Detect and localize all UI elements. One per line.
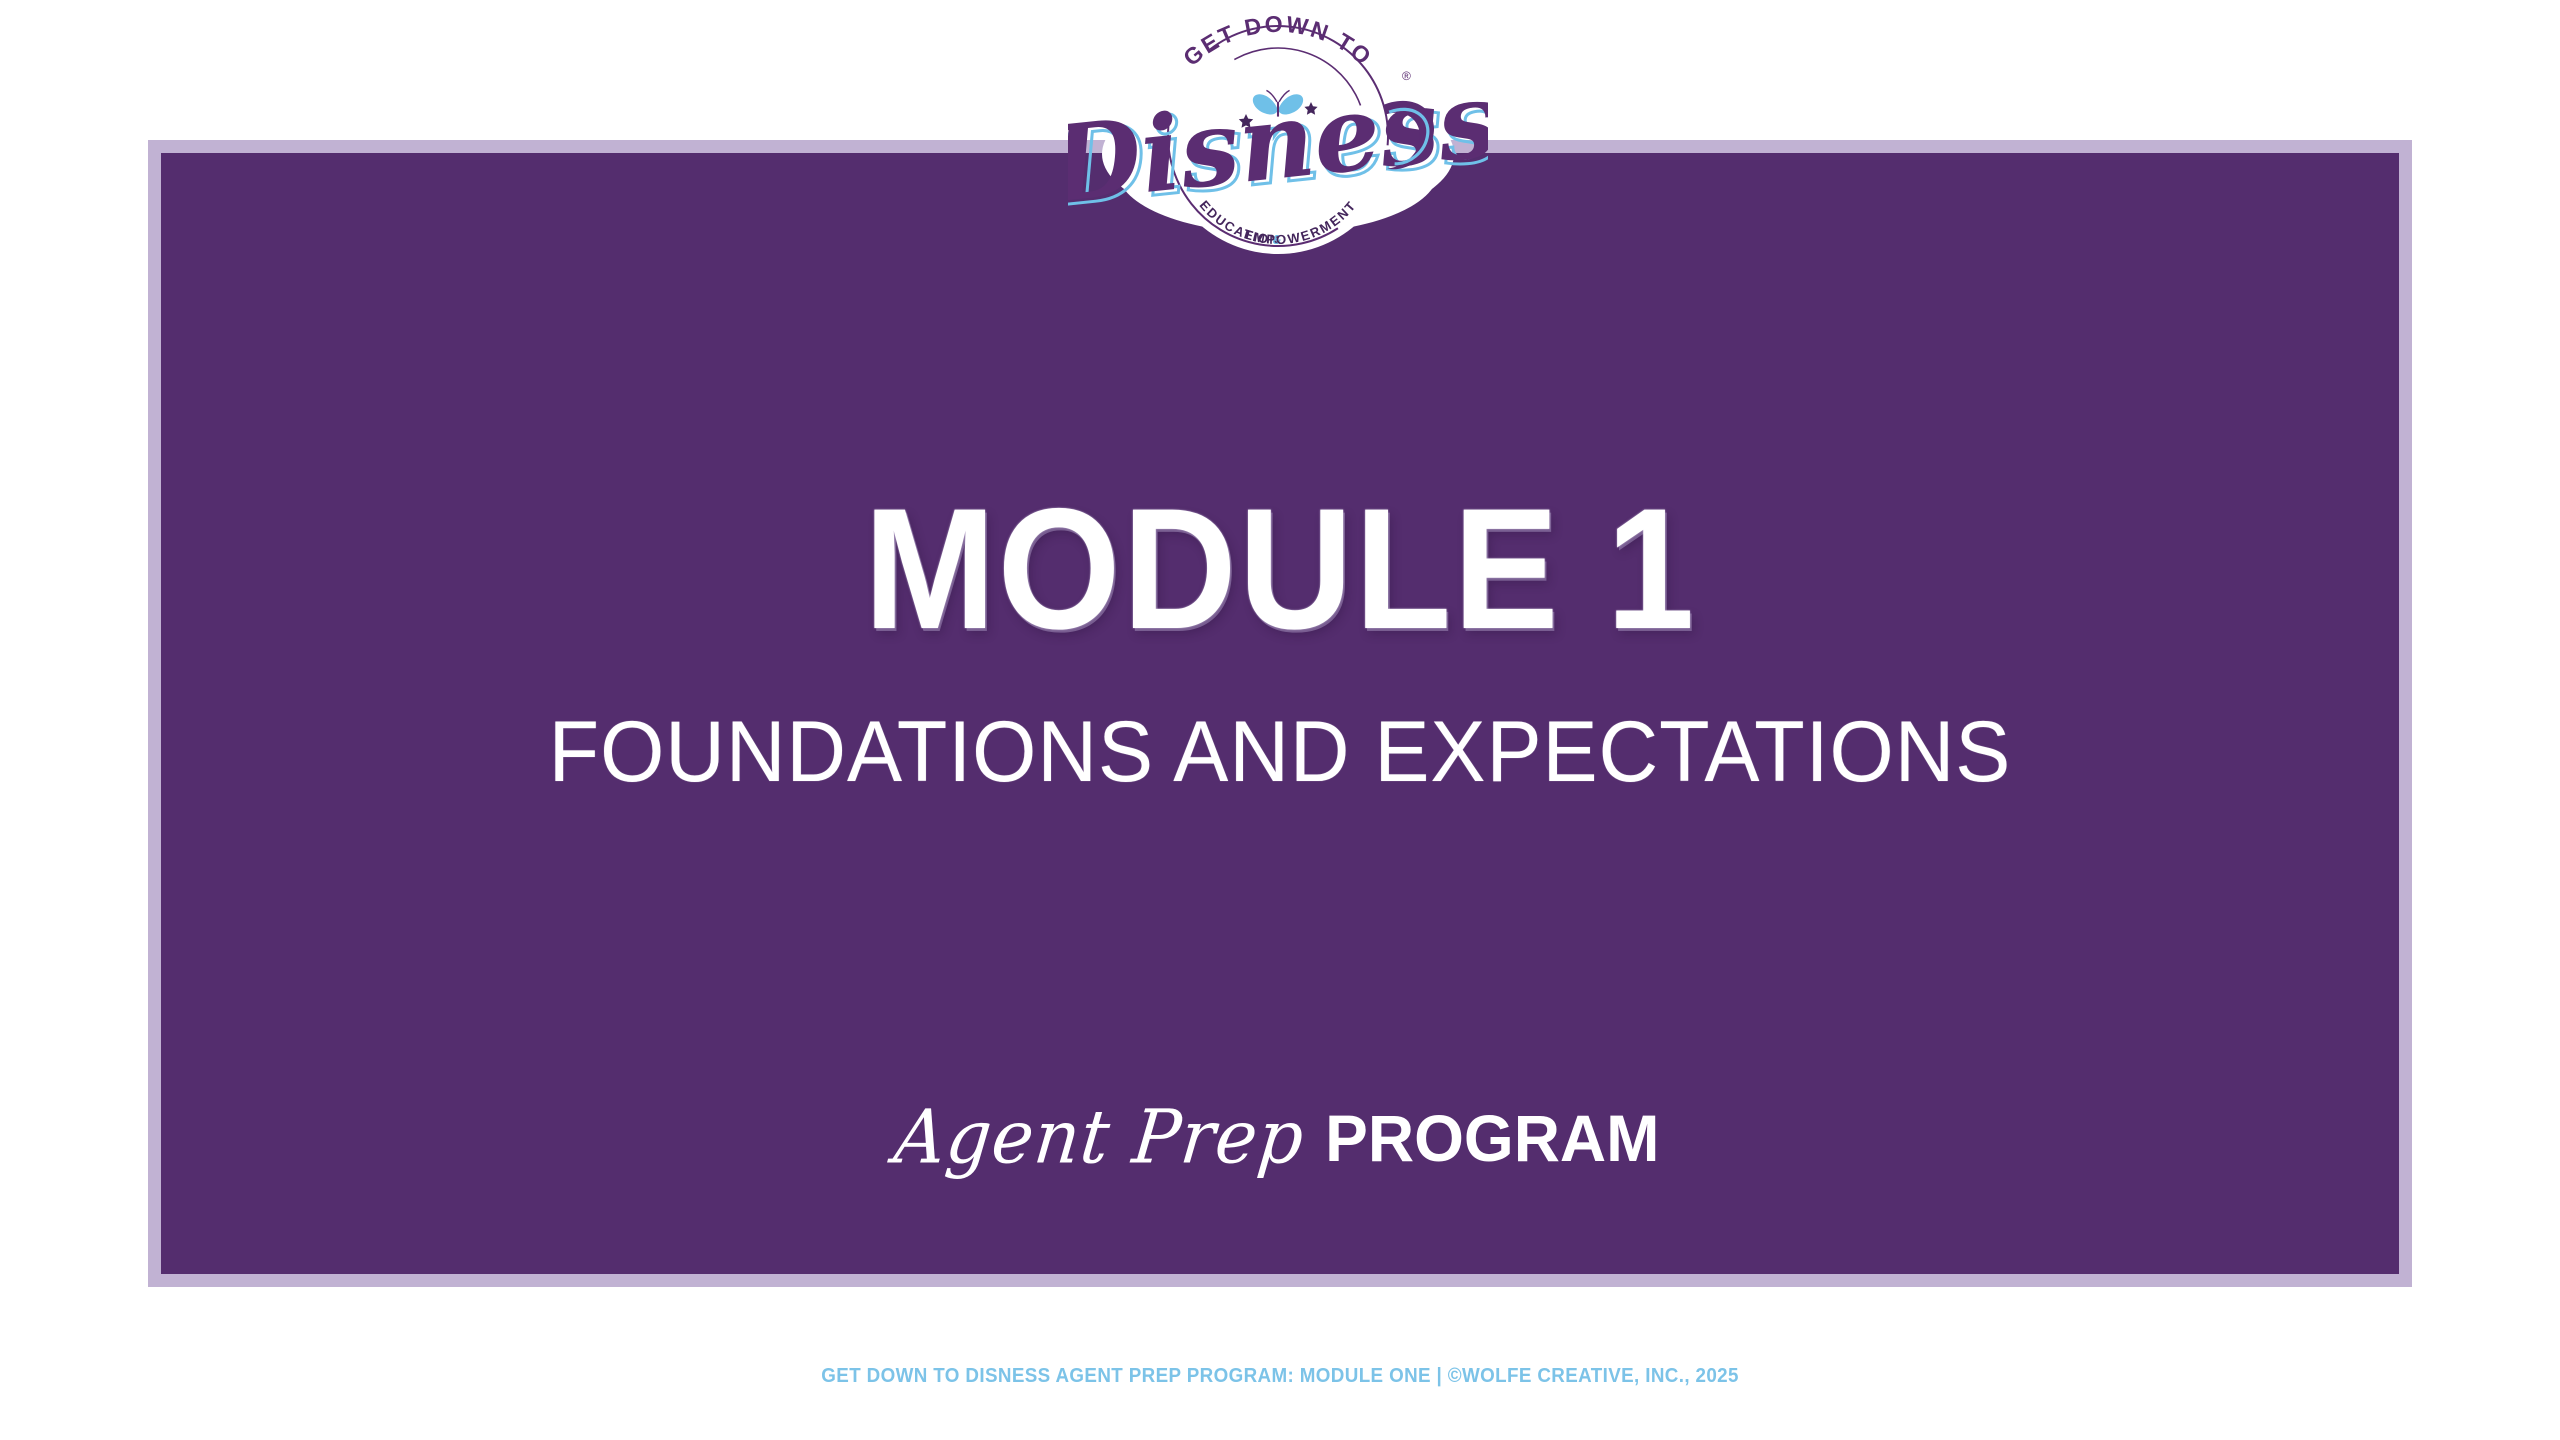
- slide-card-inner: MODULE 1 FOUNDATIONS AND EXPECTATIONS Ag…: [161, 153, 2399, 1274]
- slide-card: MODULE 1 FOUNDATIONS AND EXPECTATIONS Ag…: [148, 140, 2412, 1287]
- registered-mark-icon: ®: [1402, 69, 1411, 83]
- footer-credit-text: GET DOWN TO DISNESS AGENT PREP PROGRAM: …: [821, 1365, 1739, 1388]
- slide-root: MODULE 1 FOUNDATIONS AND EXPECTATIONS Ag…: [0, 0, 2560, 1440]
- brand-logo: GET DOWN TO EDUCATION & E: [1068, 4, 1488, 254]
- program-bold-label: PROGRAM: [1325, 1100, 1659, 1176]
- footer: GET DOWN TO DISNESS AGENT PREP PROGRAM: …: [0, 1365, 2560, 1388]
- page-subtitle: FOUNDATIONS AND EXPECTATIONS: [206, 709, 2354, 795]
- page-title: MODULE 1: [251, 483, 2310, 655]
- program-script-label: Agent Prep: [891, 1094, 1309, 1181]
- title-block: MODULE 1 FOUNDATIONS AND EXPECTATIONS: [161, 483, 2399, 795]
- program-lockup: Agent PrepPROGRAM: [161, 1096, 2399, 1178]
